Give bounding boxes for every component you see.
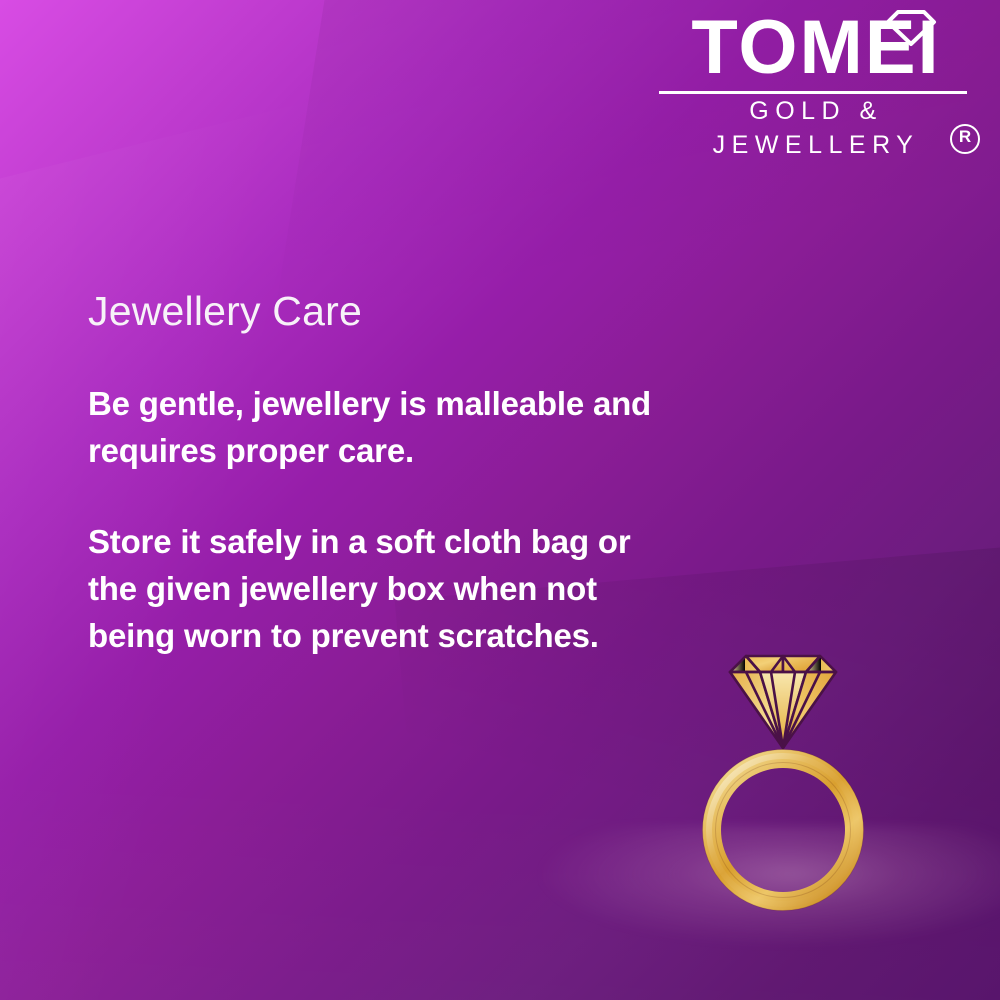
ring-graphic <box>688 630 888 930</box>
brand-wordmark: TOMEI <box>648 6 978 90</box>
poster-canvas: TOMEI R GOLD & JEWELLERY Jewellery Care … <box>0 0 1000 1000</box>
registered-trademark-icon: R <box>950 124 980 154</box>
diamond-gem-icon <box>730 656 836 748</box>
diamond-ring-illustration <box>688 630 888 930</box>
care-copy-block: Jewellery Care Be gentle, jewellery is m… <box>88 286 668 659</box>
brand-tagline: GOLD & JEWELLERY <box>648 94 978 162</box>
care-paragraph-1: Be gentle, jewellery is malleable and re… <box>88 380 668 474</box>
brand-logo: TOMEI R GOLD & JEWELLERY <box>648 6 978 162</box>
ring-band-icon <box>703 750 864 911</box>
care-paragraph-2: Store it safely in a soft cloth bag or t… <box>88 518 668 659</box>
page-title: Jewellery Care <box>88 286 668 336</box>
